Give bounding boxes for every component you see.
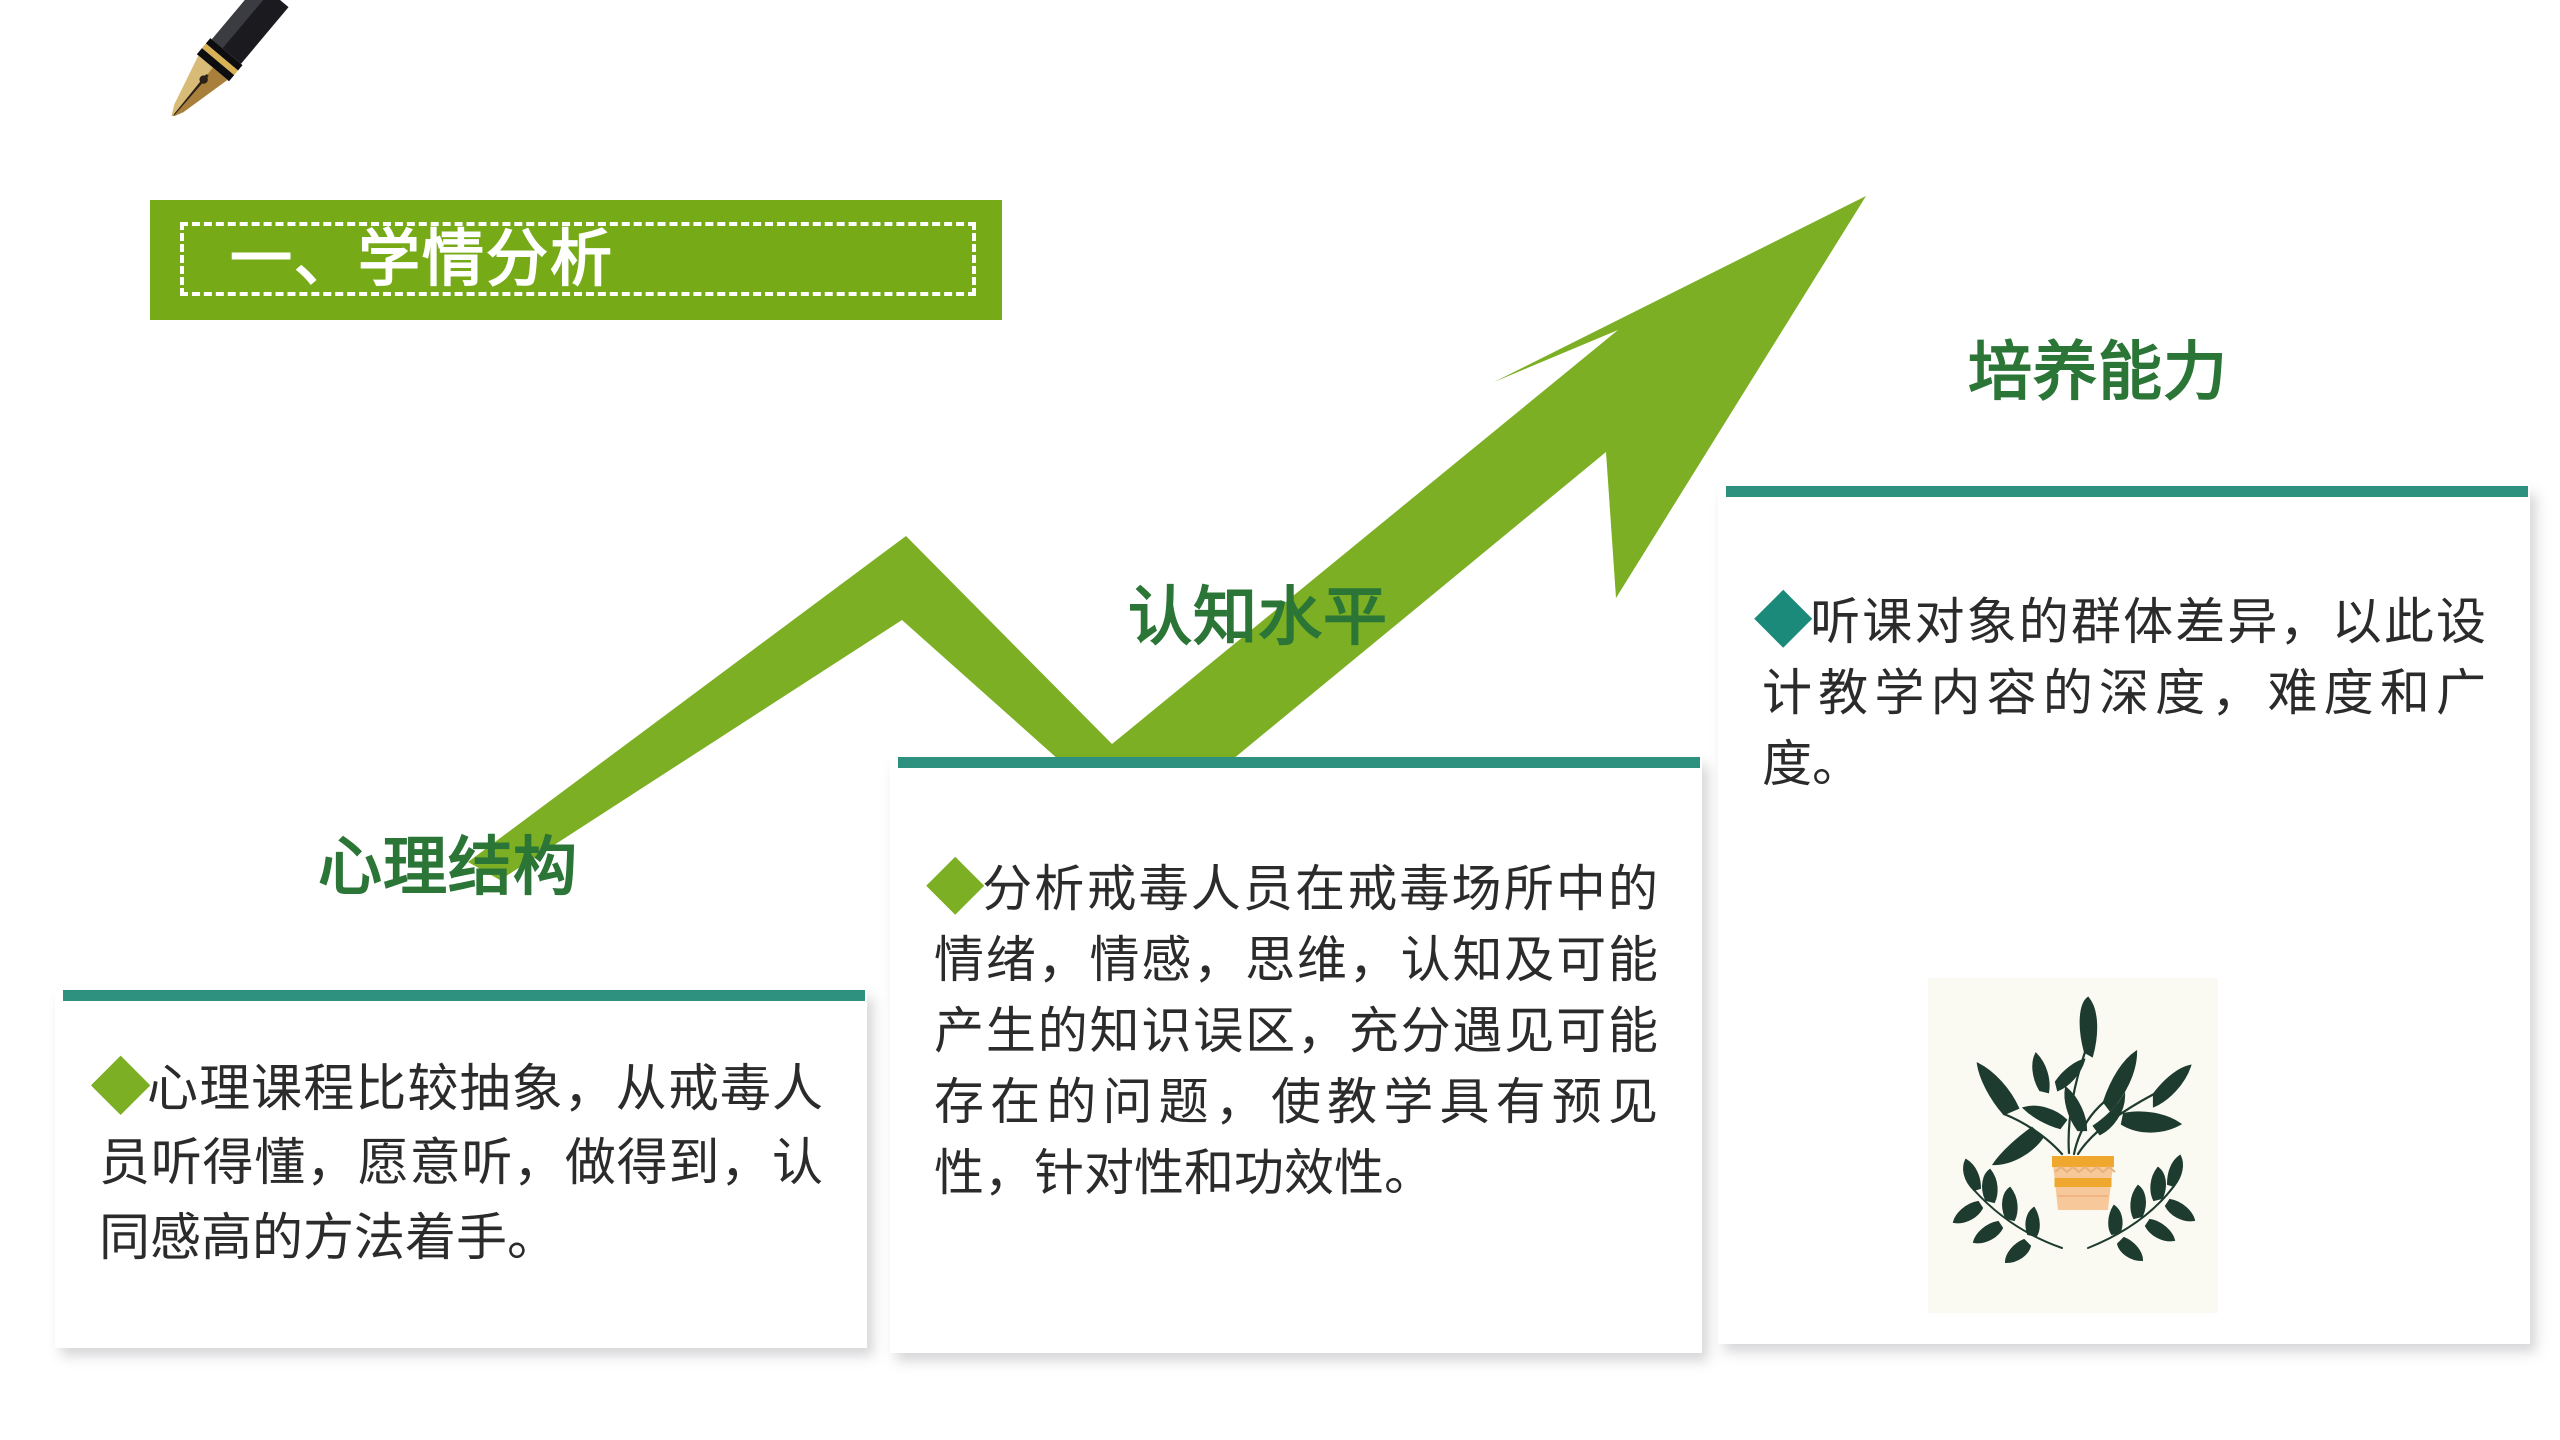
slide-canvas: 一、学情分析 心理结构 认知水平 培养能力 心理课程比较抽象，从戒毒人员听得懂，…: [0, 0, 2560, 1440]
card-body-text: 分析戒毒人员在戒毒场所中的情绪，情感，思维，认知及可能产生的知识误区，充分遇见可…: [934, 861, 1658, 1201]
diamond-bullet-icon: [91, 1056, 150, 1115]
card-heading-psychological-structure: 心理结构: [318, 835, 578, 899]
card-heading-ability-cultivation: 培养能力: [1968, 340, 2228, 404]
card-accent-bar: [898, 757, 1700, 768]
card-body: 心理课程比较抽象，从戒毒人员听得懂，愿意听，做得到，认同感高的方法着手。: [55, 1001, 867, 1348]
section-title-banner: 一、学情分析: [150, 200, 1002, 320]
card-heading-cognitive-level: 认知水平: [1128, 585, 1388, 649]
card-text: 听课对象的群体差异，以此设计教学内容的深度，难度和广度。: [1762, 587, 2486, 800]
card-accent-bar: [1726, 486, 2528, 497]
info-card-psychological-structure[interactable]: 心理课程比较抽象，从戒毒人员听得懂，愿意听，做得到，认同感高的方法着手。: [55, 990, 867, 1348]
fountain-pen-nib-icon: [88, 0, 298, 116]
card-body-text: 听课对象的群体差异，以此设计教学内容的深度，难度和广度。: [1762, 594, 2486, 792]
card-body-text: 心理课程比较抽象，从戒毒人员听得懂，愿意听，做得到，认同感高的方法着手。: [99, 1062, 823, 1267]
info-card-cognitive-level[interactable]: 分析戒毒人员在戒毒场所中的情绪，情感，思维，认知及可能产生的知识误区，充分遇见可…: [890, 757, 1702, 1353]
page-title: 一、学情分析: [230, 229, 614, 291]
diamond-bullet-icon: [1754, 590, 1812, 648]
card-accent-bar: [63, 990, 865, 1001]
card-text: 心理课程比较抽象，从戒毒人员听得懂，愿意听，做得到，认同感高的方法着手。: [99, 1053, 823, 1276]
info-card-ability-cultivation[interactable]: 听课对象的群体差异，以此设计教学内容的深度，难度和广度。: [1718, 486, 2530, 1344]
card-body: 分析戒毒人员在戒毒场所中的情绪，情感，思维，认知及可能产生的知识误区，充分遇见可…: [890, 768, 1702, 1353]
diamond-bullet-icon: [926, 857, 984, 915]
potted-plant-illustration: [1928, 978, 2218, 1313]
card-text: 分析戒毒人员在戒毒场所中的情绪，情感，思维，认知及可能产生的知识误区，充分遇见可…: [934, 854, 1658, 1209]
